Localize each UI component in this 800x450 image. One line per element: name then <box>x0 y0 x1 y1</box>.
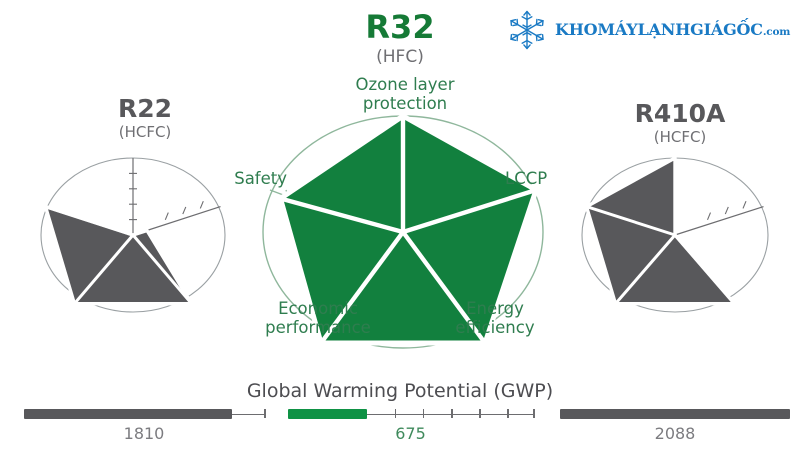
gwp-bar-r410a: 2088 <box>560 404 790 424</box>
panel-title-r410a: R410A (HCFC) <box>580 100 780 146</box>
snowflake-icon <box>505 8 549 52</box>
logo-brand-text: KHOMÁYLẠNHGIÁGỐC <box>555 20 763 39</box>
radar-chart-r410a <box>578 155 773 315</box>
panel-sub-r32: (HFC) <box>290 48 510 67</box>
gwp-bars-row: 1810 675 2088 <box>0 404 800 450</box>
gwp-tick-r32-2 <box>423 409 425 418</box>
radar-chart-r22 <box>38 155 228 315</box>
panel-name-r32: R32 <box>290 10 510 46</box>
gwp-fill-r410a <box>560 409 790 419</box>
logo-wordmark: KHOMÁYLẠNHGIÁGỐC.com <box>555 22 790 38</box>
gwp-tick-r32-3 <box>451 409 453 418</box>
gwp-tick-r32-4 <box>479 409 481 418</box>
panel-name-r410a: R410A <box>580 100 780 128</box>
gwp-tick-r22-1 <box>264 409 266 418</box>
gwp-tick-r32-5 <box>507 409 509 418</box>
gwp-track-r410a <box>560 404 790 424</box>
brand-logo: KHOMÁYLẠNHGIÁGỐC.com <box>505 8 790 52</box>
radar-axes-r22 <box>133 158 221 235</box>
axis-label-ozone-layer-protection: Ozone layer protection <box>320 76 490 114</box>
gwp-fill-r32 <box>288 409 367 419</box>
gwp-section-title: Global Warming Potential (GWP) <box>0 380 800 402</box>
panel-sub-r410a: (HCFC) <box>580 129 780 146</box>
radar-axis-ticks-r22 <box>129 173 203 219</box>
infographic-canvas: KHOMÁYLẠNHGIÁGỐC.com R22 (HCFC) R32 (HFC… <box>0 0 800 450</box>
gwp-bar-r32: 675 <box>288 404 533 424</box>
gwp-track-r22 <box>24 404 264 424</box>
gwp-track-r32 <box>288 404 533 424</box>
gwp-value-r410a: 2088 <box>560 424 790 443</box>
radar-axis-ticks-r410a <box>708 201 747 220</box>
panel-title-r22: R22 (HCFC) <box>50 95 240 141</box>
panel-name-r22: R22 <box>50 95 240 123</box>
panel-title-r32: R32 (HFC) <box>290 10 510 67</box>
axis-label-energy-efficiency: Energy efficiency <box>430 300 560 338</box>
axis-label-lccp: LCCP <box>505 170 575 189</box>
axis-label-safety: Safety <box>215 170 287 189</box>
axis-label-economic-performance: Economic performance <box>238 300 398 338</box>
panel-sub-r22: (HCFC) <box>50 124 240 141</box>
gwp-fill-r22 <box>24 409 232 419</box>
gwp-value-r32: 675 <box>288 424 533 443</box>
gwp-value-r22: 1810 <box>24 424 264 443</box>
gwp-tick-r32-6 <box>533 409 535 418</box>
gwp-tick-r32-1 <box>395 409 397 418</box>
gwp-bar-r22: 1810 <box>24 404 264 424</box>
logo-tld-text: .com <box>763 26 790 38</box>
radar-axis-lccp-r410a <box>675 207 764 235</box>
